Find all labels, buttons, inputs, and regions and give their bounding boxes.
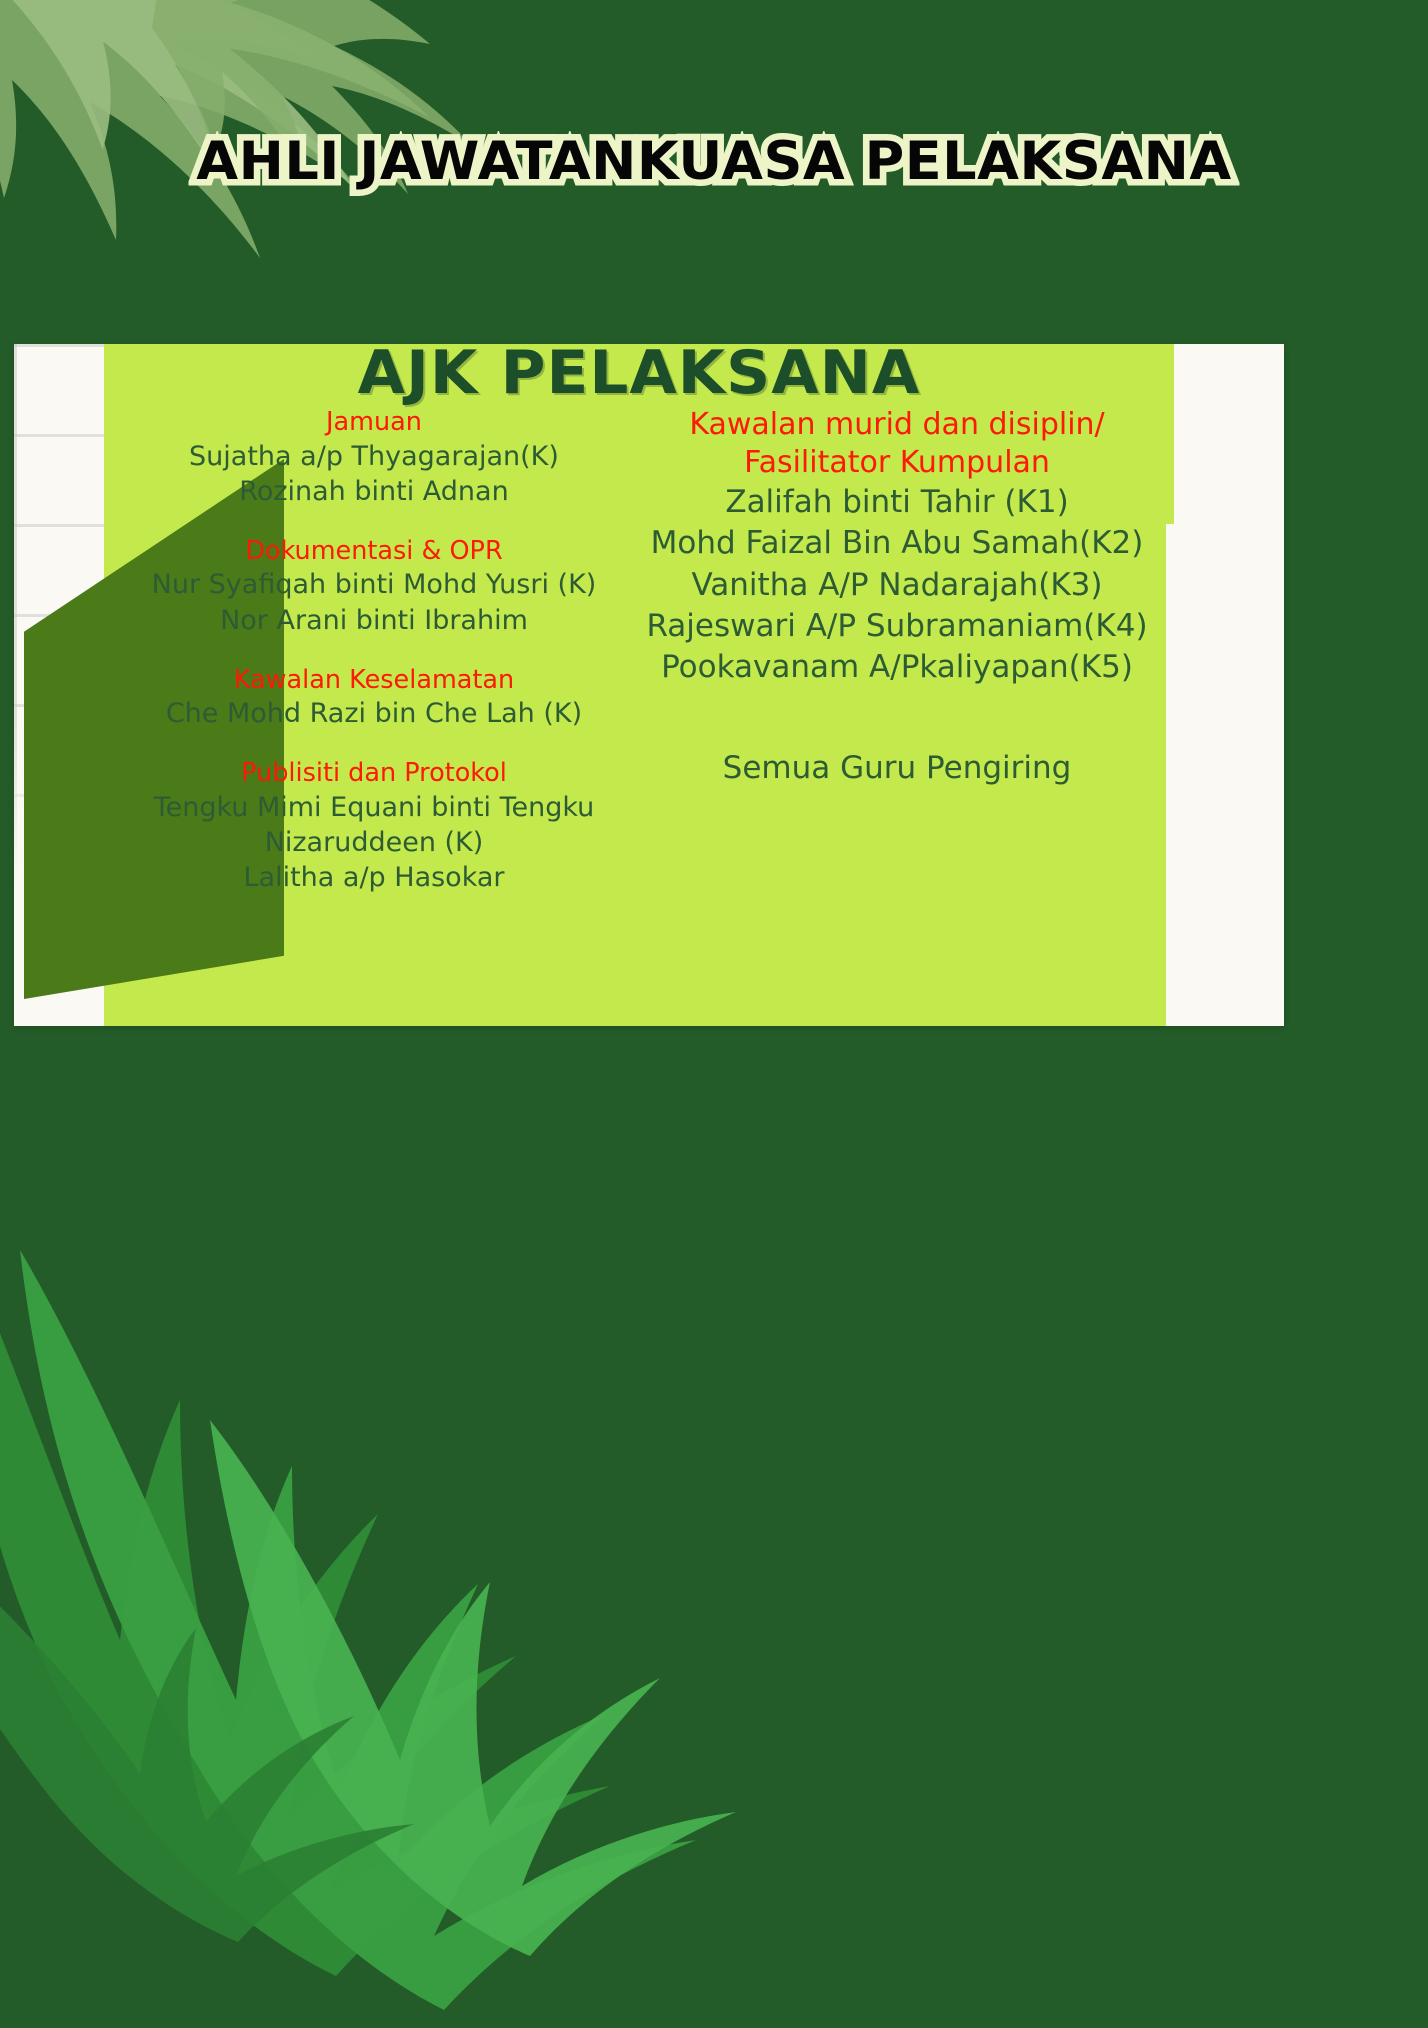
ajk-card: AJK PELAKSANA Jamuan Sujatha a/p Thyagar… [14, 344, 1284, 1026]
section-heading: Kawalan Keselamatan [126, 664, 622, 697]
section-kawalan-keselamatan: Kawalan Keselamatan Che Mohd Razi bin Ch… [126, 664, 622, 732]
section-guru-pengiring: Semua Guru Pengiring [646, 748, 1148, 789]
card-title: AJK PELAKSANA [93, 344, 1184, 408]
poster-stage: AHLI JAWATANKUASA PELAKSANA AJK PELAKSAN… [0, 0, 1428, 2028]
member-name: Mohd Faizal Bin Abu Samah(K2) [646, 523, 1148, 564]
member-name: Lalitha a/p Hasokar [126, 860, 622, 895]
section-dokumentasi-opr: Dokumentasi & OPR Nur Syafiqah binti Moh… [126, 535, 622, 638]
member-name: Zalifah binti Tahir (K1) [646, 482, 1148, 523]
section-kawalan-murid-disiplin: Kawalan murid dan disiplin/ Fasilitator … [646, 406, 1148, 688]
member-name: Rozinah binti Adnan [126, 474, 622, 509]
columns-wrapper: Jamuan Sujatha a/p Thyagarajan(K) Rozina… [104, 406, 1174, 1026]
section-publisiti-protokol: Publisiti dan Protokol Tengku Mimi Equan… [126, 757, 622, 895]
member-name: Nor Arani binti Ibrahim [126, 603, 622, 638]
section-heading: Publisiti dan Protokol [126, 757, 622, 790]
section-jamuan: Jamuan Sujatha a/p Thyagarajan(K) Rozina… [126, 406, 622, 509]
column-spacer [646, 714, 1148, 748]
member-name: Che Mohd Razi bin Che Lah (K) [126, 696, 622, 731]
blob-right-mask [1166, 524, 1284, 1026]
palm-foliage-bottom-left [0, 1170, 880, 2028]
member-name: Tengku Mimi Equani binti Tengku Nizarudd… [126, 790, 622, 860]
member-name: Rajeswari A/P Subramaniam(K4) [646, 606, 1148, 647]
section-heading: Dokumentasi & OPR [126, 535, 622, 568]
left-column: Jamuan Sujatha a/p Thyagarajan(K) Rozina… [104, 406, 634, 1026]
member-name: Semua Guru Pengiring [646, 748, 1148, 789]
member-name: Vanitha A/P Nadarajah(K3) [646, 565, 1148, 606]
member-name: Pookavanam A/Pkaliyapan(K5) [646, 647, 1148, 688]
right-column: Kawalan murid dan disiplin/ Fasilitator … [634, 406, 1174, 1026]
page-title: AHLI JAWATANKUASA PELAKSANA [0, 131, 1428, 192]
member-name: Nur Syafiqah binti Mohd Yusri (K) [126, 567, 622, 602]
card-content: AJK PELAKSANA Jamuan Sujatha a/p Thyagar… [104, 344, 1174, 1026]
section-heading: Kawalan murid dan disiplin/ Fasilitator … [646, 406, 1148, 482]
section-heading: Jamuan [126, 406, 622, 439]
member-name: Sujatha a/p Thyagarajan(K) [126, 439, 622, 474]
